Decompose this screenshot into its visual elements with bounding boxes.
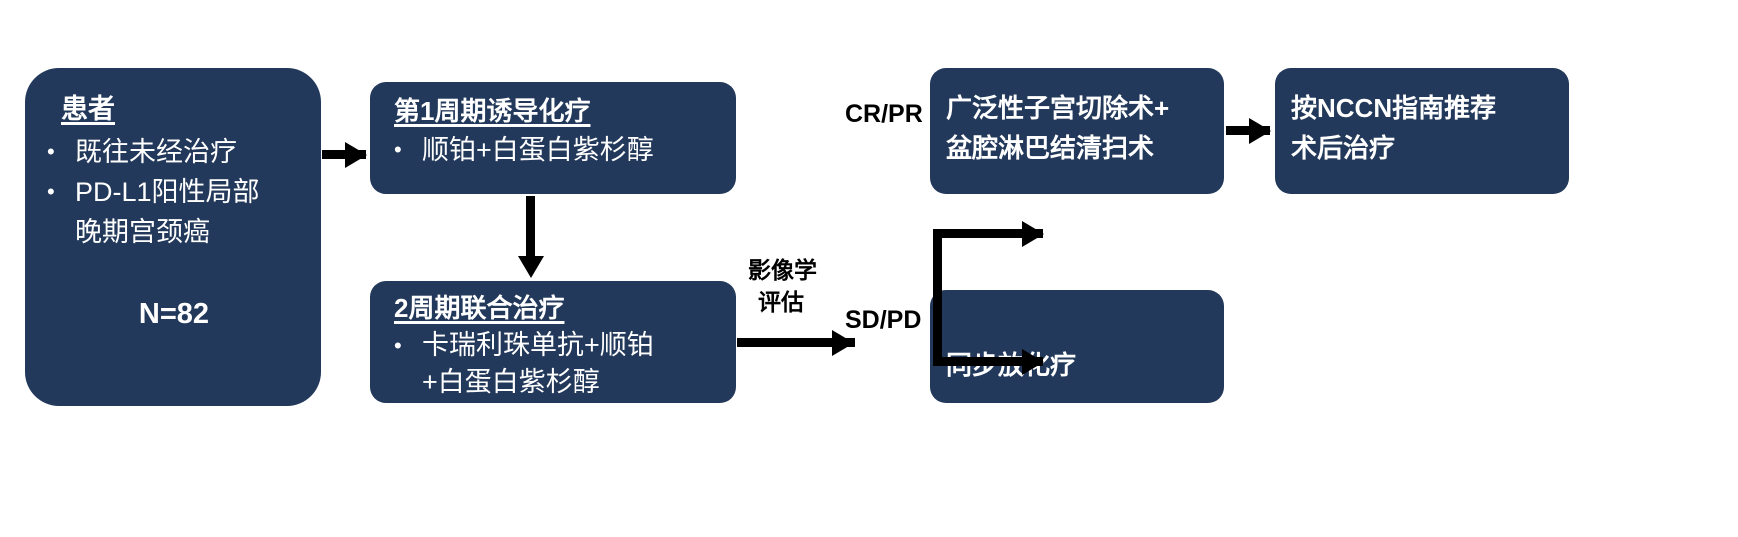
node-induction-bullet-1: • 顺铂+白蛋白紫杉醇: [384, 130, 726, 170]
bullet-marker-icon: •: [384, 130, 422, 170]
edge-label-response-sd-pd: SD/PD: [845, 305, 921, 335]
node-patients-bullet-2: • PD-L1阳性局部 晚期宫颈癌: [47, 172, 301, 252]
node-combination-bullet-line-1: 卡瑞利珠单抗+顺铂: [422, 330, 654, 360]
node-nccn-adjuvant-line-1: 按NCCN指南推荐: [1291, 88, 1555, 128]
arrow-head-patients-to-induction-icon: [345, 142, 367, 168]
node-patients[interactable]: 患者 • 既往未经治疗 • PD-L1阳性局部 晚期宫颈癌 N=82: [25, 68, 321, 406]
flowchart-canvas: 患者 • 既往未经治疗 • PD-L1阳性局部 晚期宫颈癌 N=82 第1周期诱…: [0, 0, 1738, 537]
edge-label-response-cr-pr: CR/PR: [845, 99, 923, 129]
node-concurrent-chemoradiotherapy[interactable]: 同步放化疗: [930, 290, 1224, 403]
node-radical-surgery[interactable]: 广泛性子宫切除术+ 盆腔淋巴结清扫术: [930, 68, 1224, 194]
node-patients-bullet-1: • 既往未经治疗: [47, 132, 301, 172]
node-radical-surgery-line-2: 盆腔淋巴结清扫术: [946, 128, 1210, 168]
node-induction-chemo[interactable]: 第1周期诱导化疗 • 顺铂+白蛋白紫杉醇: [370, 82, 736, 194]
node-patients-title: 患者: [61, 92, 301, 126]
node-nccn-adjuvant[interactable]: 按NCCN指南推荐 术后治疗: [1275, 68, 1569, 194]
node-combination-bullet-line-2: +白蛋白紫杉醇: [422, 364, 728, 401]
arrow-head-induction-to-combination-icon: [518, 256, 544, 278]
node-induction-bullet-1-text: 顺铂+白蛋白紫杉醇: [422, 130, 726, 170]
node-nccn-adjuvant-line-2: 术后治疗: [1291, 128, 1555, 168]
node-induction-title: 第1周期诱导化疗: [394, 94, 726, 128]
bullet-marker-icon: •: [384, 327, 422, 364]
bullet-marker-icon: •: [47, 172, 75, 212]
bullet-marker-icon: •: [47, 132, 75, 172]
connector-induction-to-combination: [526, 196, 535, 264]
node-patients-bullet-2-text: PD-L1阳性局部 晚期宫颈癌: [75, 172, 301, 252]
node-patients-bullet-2-line-a: PD-L1阳性局部: [75, 177, 260, 207]
edge-label-imaging-line-1: 影像学: [748, 255, 817, 285]
node-combination-title: 2周期联合治疗: [394, 291, 728, 325]
node-combination-therapy[interactable]: 2周期联合治疗 • 卡瑞利珠单抗+顺铂 +白蛋白紫杉醇: [370, 281, 736, 403]
connector-decision-spine: [933, 229, 942, 366]
arrow-head-junction-to-surgery-icon: [1022, 221, 1044, 247]
arrow-head-surgery-to-nccn-icon: [1249, 118, 1271, 144]
edge-label-imaging-line-2: 评估: [758, 287, 804, 317]
node-patients-bullet-2-line-b: 晚期宫颈癌: [75, 217, 210, 247]
node-combination-bullet-1-text: 卡瑞利珠单抗+顺铂 +白蛋白紫杉醇: [422, 327, 728, 401]
node-patients-bullet-1-text: 既往未经治疗: [75, 132, 301, 172]
arrow-head-junction-to-ccrt-icon: [1022, 349, 1044, 375]
node-combination-bullet-1: • 卡瑞利珠单抗+顺铂 +白蛋白紫杉醇: [384, 327, 728, 401]
node-radical-surgery-line-1: 广泛性子宫切除术+: [946, 88, 1210, 128]
node-patients-enrollment: N=82: [47, 298, 301, 331]
node-patients-bullet-list: • 既往未经治疗 • PD-L1阳性局部 晚期宫颈癌: [47, 132, 301, 252]
